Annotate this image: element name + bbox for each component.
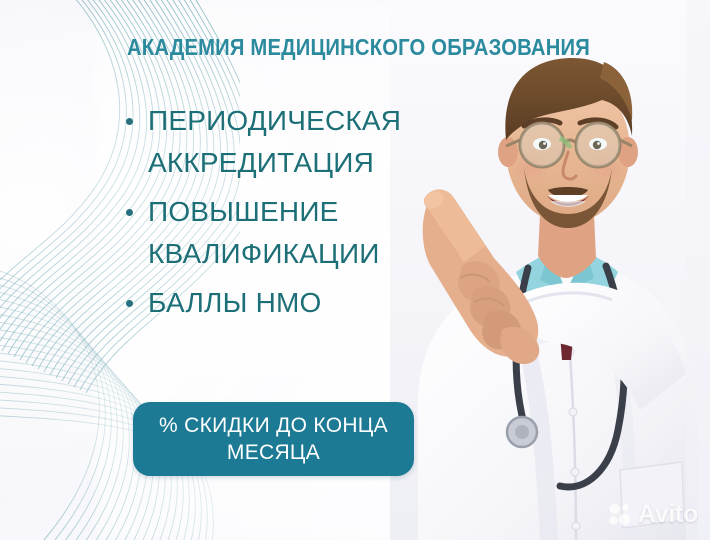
list-item-label: БАЛЛЫ НМО — [148, 287, 322, 318]
list-item: ПЕРИОДИЧЕСКАЯ АККРЕДИТАЦИЯ — [123, 100, 473, 184]
bullet-dot-icon — [126, 209, 133, 216]
list-item: ПОВЫШЕНИЕ КВАЛИФИКАЦИИ — [123, 191, 473, 275]
advertisement-poster: АКАДЕМИЯ МЕДИЦИНСКОГО ОБРАЗОВАНИЯ ПЕРИОД… — [0, 0, 710, 540]
list-item: БАЛЛЫ НМО — [123, 282, 473, 324]
list-item-label: ПОВЫШЕНИЕ КВАЛИФИКАЦИИ — [148, 196, 380, 269]
bullet-dot-icon — [126, 118, 133, 125]
page-title: АКАДЕМИЯ МЕДИЦИНСКОГО ОБРАЗОВАНИЯ — [127, 34, 549, 60]
discount-badge: % СКИДКИ ДО КОНЦА МЕСЯЦА — [133, 402, 414, 476]
discount-badge-label: % СКИДКИ ДО КОНЦА МЕСЯЦА — [133, 412, 414, 466]
list-item-label: ПЕРИОДИЧЕСКАЯ АККРЕДИТАЦИЯ — [148, 105, 401, 178]
bullet-dot-icon — [126, 300, 133, 307]
features-list: ПЕРИОДИЧЕСКАЯ АККРЕДИТАЦИЯ ПОВЫШЕНИЕ КВА… — [123, 100, 473, 331]
